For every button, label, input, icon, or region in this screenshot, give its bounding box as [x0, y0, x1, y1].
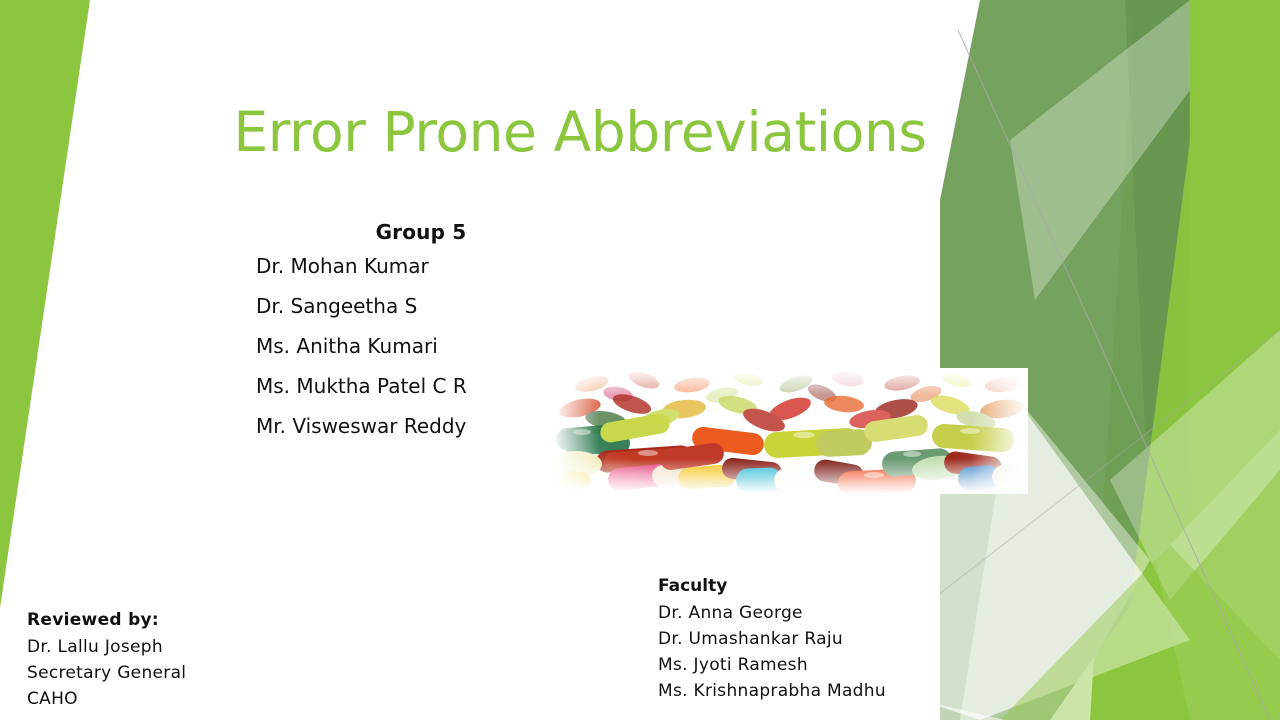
faculty-block: Faculty Dr. Anna George Dr. Umashankar R…: [658, 576, 886, 704]
faculty-name: Dr. Anna George: [658, 600, 886, 626]
faculty-name: Ms. Jyoti Ramesh: [658, 652, 886, 678]
group-member: Mr. Visweswar Reddy: [256, 416, 586, 436]
presentation-slide: Error Prone Abbreviations Group 5 Dr. Mo…: [0, 0, 1280, 720]
group-member: Ms. Muktha Patel C R: [256, 376, 586, 396]
faculty-heading: Faculty: [658, 576, 886, 597]
reviewer-line: Dr. Lallu Joseph: [27, 634, 186, 660]
group-members-block: Group 5 Dr. Mohan Kumar Dr. Sangeetha S …: [256, 220, 586, 436]
group-member: Ms. Anitha Kumari: [256, 336, 586, 356]
pills-and-capsules-photo: [552, 368, 1028, 494]
group-member: Dr. Sangeetha S: [256, 296, 586, 316]
reviewer-line: CAHO: [27, 686, 186, 712]
slide-title: Error Prone Abbreviations: [140, 104, 1020, 162]
faculty-name: Dr. Umashankar Raju: [658, 626, 886, 652]
group-heading: Group 5: [256, 220, 586, 244]
group-member: Dr. Mohan Kumar: [256, 256, 586, 276]
reviewed-by-block: Reviewed by: Dr. Lallu Joseph Secretary …: [27, 610, 186, 712]
reviewer-line: Secretary General: [27, 660, 186, 686]
reviewed-by-heading: Reviewed by:: [27, 610, 186, 631]
faculty-name: Ms. Krishnaprabha Madhu: [658, 678, 886, 704]
